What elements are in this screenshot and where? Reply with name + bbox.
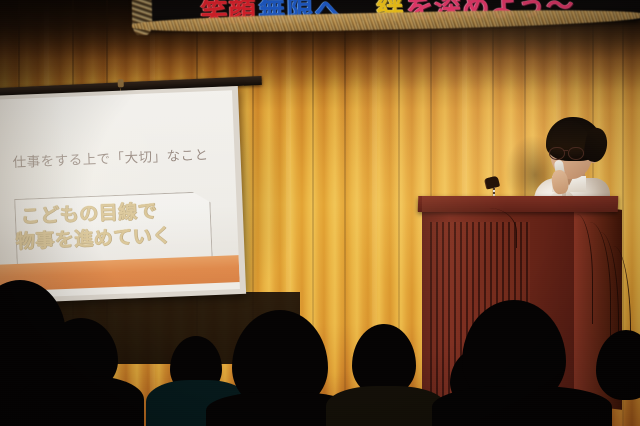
stage-photo-scene: 笑顔 無限へ 絆 を深めよう～ 仕事をする上で「大切」なこと こどもの目線で 物… [0, 0, 640, 426]
slide-title: 仕事をする上で「大切」なこと [12, 143, 209, 171]
screen-pull-knob [118, 79, 124, 87]
banner-spacer [343, 6, 375, 7]
projection-screen: 仕事をする上で「大切」なこと こどもの目線で 物事を進めていく [0, 86, 246, 304]
projection-screen-surface: 仕事をする上で「大切」なこと こどもの目線で 物事を進めていく [0, 90, 240, 298]
audience-body [432, 386, 612, 426]
slide-body-text: こどもの目線で 物事を進めていく [20, 197, 212, 254]
eyeglass-lens-right [568, 147, 584, 160]
eyeglasses-icon [548, 147, 586, 158]
audience-body [326, 386, 446, 426]
lectern-top-surface [418, 196, 619, 212]
slide-body-line-1: こどもの目線で [20, 200, 157, 227]
eyeglass-bridge [563, 150, 568, 151]
eyeglass-lens-left [549, 147, 565, 160]
audience-body [18, 376, 144, 426]
slide-content: 仕事をする上で「大切」なこと こどもの目線で 物事を進めていく [0, 90, 240, 298]
